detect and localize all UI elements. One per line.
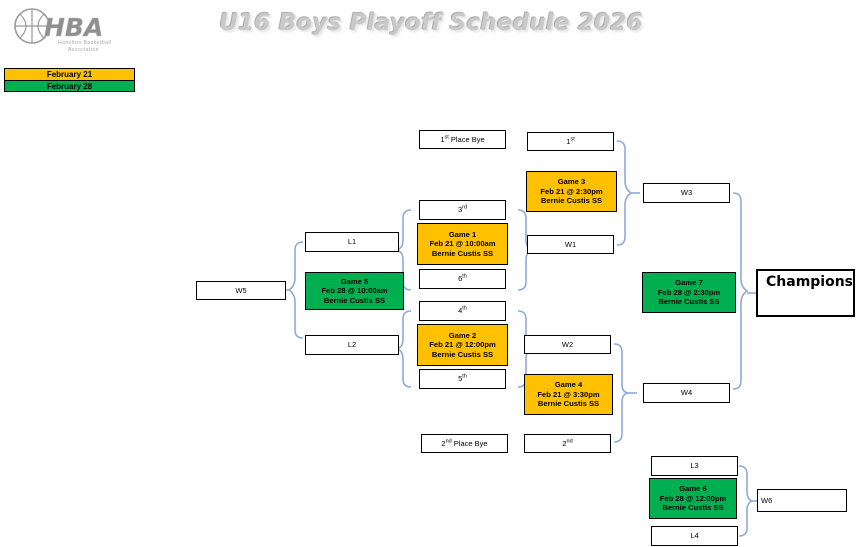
game4-venue: Bernie Custis SS — [538, 399, 599, 408]
game1-name: Game 1 — [449, 230, 476, 239]
date-legend: February 21 February 28 — [4, 68, 135, 92]
championship-label: Championship — [766, 274, 855, 292]
game6-name: Game 6 — [679, 484, 706, 493]
game4-name: Game 4 — [555, 380, 582, 389]
game5-name: Game 5 — [341, 277, 368, 286]
game-card-game4[interactable]: Game 4 Feb 21 @ 3:30pm Bernie Custis SS — [524, 374, 613, 415]
game-card-game3[interactable]: Game 3 Feb 21 @ 2:30pm Bernie Custis SS — [526, 171, 617, 212]
game5-venue: Bernie Custis SS — [324, 296, 385, 305]
seed-second-label: 2nd — [562, 439, 572, 448]
slot-w1: W1 — [527, 235, 614, 254]
seed-first-label: 1st — [566, 137, 574, 146]
slot-w1-label: W1 — [565, 240, 576, 249]
slot-l2: L2 — [305, 335, 399, 355]
game7-datetime: Feb 28 @ 2:30pm — [658, 288, 720, 297]
game-card-game5[interactable]: Game 5 Feb 28 @ 10:00am Bernie Custis SS — [305, 272, 404, 310]
svg-text:Association: Association — [68, 47, 99, 53]
slot-w2-label: W2 — [562, 340, 573, 349]
slot-w3-label: W3 — [681, 188, 692, 197]
legend-item-feb28: February 28 — [5, 80, 134, 91]
slot-l1-label: L1 — [348, 237, 356, 246]
slot-w6-label: W6 — [761, 496, 772, 505]
second-place-bye-label: 2nd Place Bye — [441, 439, 487, 448]
slot-l1: L1 — [305, 232, 399, 252]
svg-text:Hamilton Basketball: Hamilton Basketball — [58, 40, 111, 46]
game2-venue: Bernie Custis SS — [432, 350, 493, 359]
game5-datetime: Feb 28 @ 10:00am — [321, 286, 387, 295]
first-place-bye-label: 1st Place Bye — [440, 135, 484, 144]
seed-fifth-label: 5th — [458, 374, 467, 383]
seed-first: 1st — [527, 132, 614, 151]
game-card-game1[interactable]: Game 1 Feb 21 @ 10:00am Bernie Custis SS — [417, 223, 508, 265]
game3-venue: Bernie Custis SS — [541, 196, 602, 205]
seed-sixth: 6th — [419, 269, 506, 289]
slot-w4-label: W4 — [681, 388, 692, 397]
seed-fifth: 5th — [419, 369, 506, 389]
slot-w5-label: W5 — [235, 286, 246, 295]
slot-l2-label: L2 — [348, 340, 356, 349]
legend-item-feb21: February 21 — [5, 69, 134, 80]
slot-championship: Championship — [756, 269, 855, 317]
seed-second: 2nd — [524, 434, 611, 453]
slot-first-place-bye: 1st Place Bye — [419, 130, 506, 149]
seed-third-label: 3rd — [458, 205, 467, 214]
game-card-game7[interactable]: Game 7 Feb 28 @ 2:30pm Bernie Custis SS — [642, 272, 736, 313]
game2-name: Game 2 — [449, 331, 476, 340]
slot-l4: L4 — [651, 526, 738, 546]
game7-venue: Bernie Custis SS — [658, 297, 719, 306]
slot-w3: W3 — [643, 183, 730, 203]
slot-w6: W6 — [757, 489, 847, 512]
seed-third: 3rd — [419, 200, 506, 220]
slot-l3-label: L3 — [690, 461, 698, 470]
page-title: U16 Boys Playoff Schedule 2026 — [0, 10, 862, 36]
slot-w4: W4 — [643, 383, 730, 403]
game-card-game2[interactable]: Game 2 Feb 21 @ 12:00pm Bernie Custis SS — [417, 324, 508, 366]
slot-w2: W2 — [524, 335, 611, 354]
game3-name: Game 3 — [558, 177, 585, 186]
slot-l3: L3 — [651, 456, 738, 476]
game1-venue: Bernie Custis SS — [432, 249, 493, 258]
seed-sixth-label: 6th — [458, 274, 467, 283]
game1-datetime: Feb 21 @ 10:00am — [429, 239, 495, 248]
game6-datetime: Feb 28 @ 12:00pm — [660, 494, 727, 503]
slot-w5: W5 — [196, 281, 286, 300]
slot-second-place-bye: 2nd Place Bye — [421, 434, 508, 453]
slot-l4-label: L4 — [690, 531, 698, 540]
game4-datetime: Feb 21 @ 3:30pm — [537, 390, 599, 399]
game3-datetime: Feb 21 @ 2:30pm — [540, 187, 602, 196]
game2-datetime: Feb 21 @ 12:00pm — [429, 340, 496, 349]
seed-fourth-label: 4th — [458, 306, 467, 315]
game7-name: Game 7 — [675, 278, 702, 287]
game-card-game6[interactable]: Game 6 Feb 28 @ 12:00pm Bernie Custis SS — [649, 478, 737, 519]
seed-fourth: 4th — [419, 301, 506, 321]
game6-venue: Bernie Custis SS — [662, 503, 723, 512]
